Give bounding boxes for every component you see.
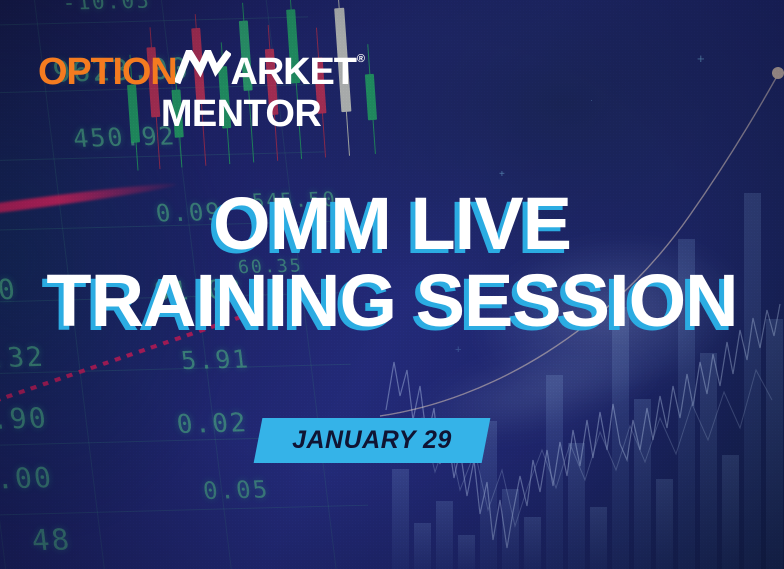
promo-banner: -10.05 78 9623.00 09 450.92 80 0.09 .32 … — [0, 0, 784, 569]
logo-word-market: ARKET — [175, 50, 355, 91]
logo-chart-m-icon — [175, 50, 231, 84]
logo-line-one: OPTION ARKET ® — [38, 50, 408, 91]
date-badge: JANUARY 29 — [258, 418, 486, 463]
date-badge-label: JANUARY 29 — [292, 427, 452, 453]
logo-word-option: OPTION — [38, 53, 176, 91]
brand-logo: OPTION ARKET ® MENTOR — [38, 50, 408, 133]
registered-trademark-icon: ® — [357, 54, 364, 65]
logo-word-mentor: MENTOR — [106, 95, 376, 133]
logo-word-market-rest: ARKET — [230, 53, 355, 91]
page-title: OMM LIVE TRAINING SESSION — [0, 188, 784, 336]
date-badge-shape: JANUARY 29 — [254, 418, 490, 463]
headline-line-one: OMM LIVE — [0, 188, 784, 259]
headline-line-two: TRAINING SESSION — [0, 265, 784, 336]
